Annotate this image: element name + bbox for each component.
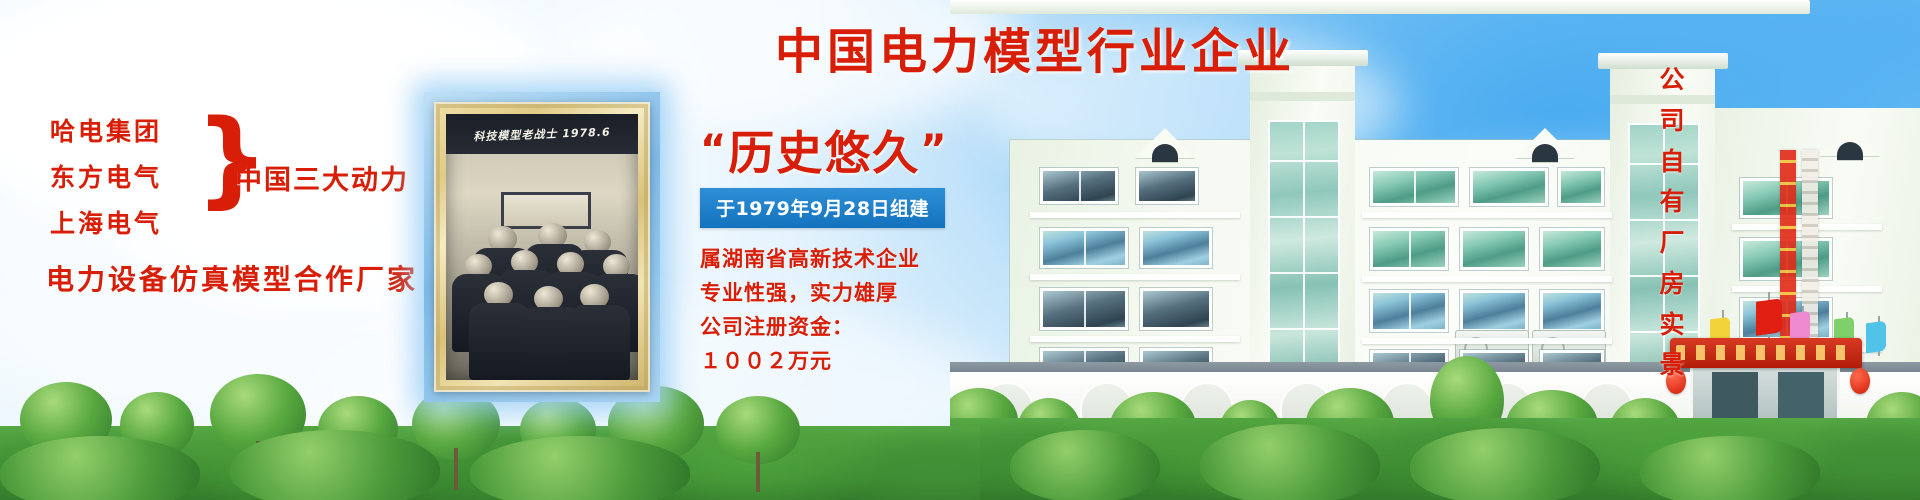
photo-banner-strip: 科技模型老战士 1978.6 — [446, 114, 638, 154]
window-ledge — [1030, 212, 1240, 218]
shrub — [1200, 424, 1380, 500]
vertical-char: 自 — [1650, 142, 1694, 183]
window-ledge — [1030, 274, 1240, 280]
description-line: １００２万元 — [700, 344, 970, 378]
description-block: 属湖南省高新技术企业 专业性强，实力雄厚 公司注册资金： １００２万元 — [700, 242, 970, 378]
gate-signboard — [1670, 338, 1862, 368]
building-window — [1470, 168, 1548, 206]
building-window — [1540, 228, 1604, 270]
dormer-window — [1515, 128, 1575, 158]
shrub — [1010, 430, 1160, 500]
brand-list: 哈电集团 东方电气 上海电气 } 中国三大动力 — [40, 110, 420, 245]
building-window — [1370, 290, 1448, 332]
dormer-window — [1135, 128, 1195, 158]
building-window — [1040, 288, 1128, 330]
vertical-char: 公 — [1650, 60, 1694, 101]
slogan-line: “历史悠久” — [700, 130, 970, 176]
vintage-group-photo: 科技模型老战士 1978.6 — [446, 114, 638, 380]
building-window — [1460, 228, 1528, 270]
center-text-block: “历史悠久” 于1979年9月28日组建 属湖南省高新技术企业 专业性强，实力雄… — [700, 130, 970, 378]
vertical-char: 有 — [1650, 182, 1694, 223]
building-window — [1370, 228, 1448, 270]
tree — [716, 396, 800, 490]
brace-label: 中国三大动力 — [235, 158, 409, 197]
framed-photo: 科技模型老战士 1978.6 — [424, 92, 660, 402]
vertical-char: 厂 — [1650, 223, 1694, 264]
building-window — [1370, 168, 1458, 206]
brand-item: 哈电集团 — [50, 112, 162, 148]
quote-close: ” — [920, 127, 948, 173]
building-window — [1140, 288, 1212, 330]
red-lantern — [1850, 368, 1870, 394]
building-window — [1558, 168, 1604, 206]
description-line: 公司注册资金： — [700, 310, 970, 344]
photo-frame-border: 科技模型老战士 1978.6 — [434, 102, 650, 392]
photo-banner-text: 科技模型老战士 1978.6 — [473, 124, 611, 145]
building-window — [1460, 290, 1528, 332]
building-window — [1136, 168, 1198, 204]
shrub — [0, 436, 200, 500]
quote-open: “ — [700, 127, 728, 173]
building-window — [1140, 228, 1212, 268]
window-ledge — [1362, 212, 1612, 218]
company-banner: 中国电力模型行业企业 哈电集团 东方电气 上海电气 } 中国三大动力 电力设备仿… — [0, 0, 1920, 500]
brand-item: 东方电气 — [50, 158, 162, 194]
founding-date-badge: 于1979年9月28日组建 — [700, 188, 945, 228]
tower-band — [1250, 92, 1355, 101]
building-window — [1040, 228, 1128, 268]
vertical-char: 景 — [1650, 345, 1694, 386]
vertical-char: 实 — [1650, 305, 1694, 346]
decorative-flag — [1866, 321, 1886, 354]
photo-wall-board — [504, 195, 588, 226]
headline-text: 中国电力模型行业企业 — [775, 12, 1295, 82]
window-ledge — [1362, 276, 1612, 282]
shrub — [1640, 436, 1820, 500]
shrub — [1410, 428, 1600, 500]
window-ledge — [1362, 338, 1612, 344]
photo-people-group — [446, 183, 638, 380]
national-flag — [1756, 298, 1782, 336]
slogan-text: 历史悠久 — [728, 126, 920, 180]
window-ledge — [1030, 336, 1240, 342]
dormer-window — [1820, 126, 1880, 156]
brand-item: 上海电气 — [50, 204, 162, 240]
description-line: 专业性强，实力雄厚 — [700, 276, 970, 310]
partner-line: 电力设备仿真模型合作厂家 — [46, 258, 418, 298]
left-text-block: 哈电集团 东方电气 上海电气 } 中国三大动力 电力设备仿真模型合作厂家 — [40, 110, 420, 245]
vertical-caption: 公 司 自 有 厂 房 实 景 — [1650, 60, 1694, 386]
vertical-char: 房 — [1650, 264, 1694, 305]
banner-headline: 中国电力模型行业企业 — [0, 12, 1920, 82]
shrub — [230, 430, 440, 500]
description-line: 属湖南省高新技术企业 — [700, 242, 970, 276]
building-window — [1540, 290, 1604, 332]
vertical-char: 司 — [1650, 101, 1694, 142]
shrub — [470, 436, 690, 500]
building-window — [1040, 168, 1118, 204]
